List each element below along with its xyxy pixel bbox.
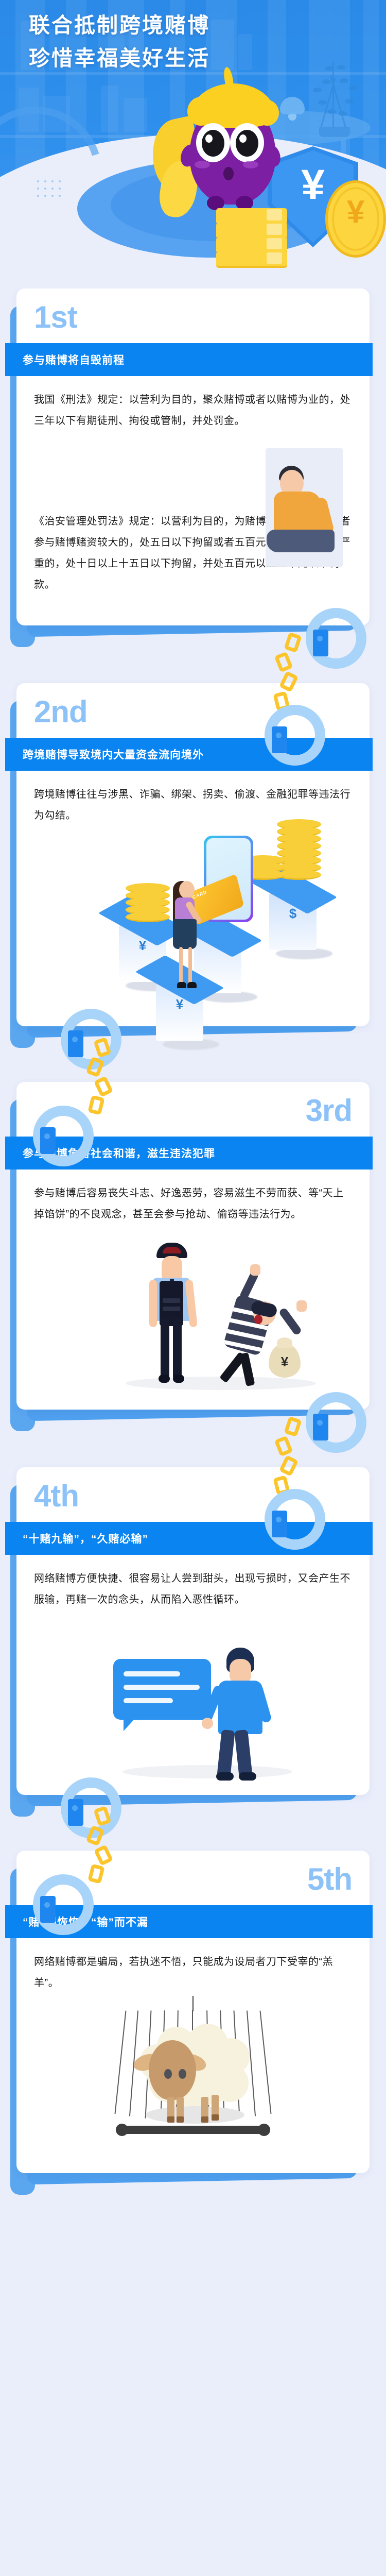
pedestal-currency-right: $	[260, 906, 325, 922]
gold-coin-icon: ¥	[325, 180, 386, 258]
pedestal-currency-left: ¥	[110, 938, 175, 954]
handcuffs-separator-3	[0, 1388, 386, 1517]
handcuffs-separator-2	[0, 1005, 386, 1133]
money-bag-symbol: ¥	[269, 1354, 301, 1370]
section-3-paragraph-1: 参与赌博后容易丧失斗志、好逸恶劳，容易滋生不劳而获、等“天上掉馅饼”的不良观念，…	[34, 1183, 352, 1225]
handcuffs-separator-4	[0, 1773, 386, 1902]
section-4: 4th “十赌九输”，“久赌必输” 网络赌博方便快捷、很容易让人尝到甜头，出现亏…	[0, 1467, 386, 1902]
online-gambling-illustration	[25, 1627, 361, 1782]
title-line-2: 珍惜幸福美好生活	[29, 42, 210, 75]
section-1-paragraph-1: 我国《刑法》规定：以营利为目的，聚众赌博或者以赌博为业的，处三年以下有期徒刑、拘…	[34, 389, 352, 432]
isometric-money-illustration: ¥ $ CARD	[25, 843, 361, 1013]
coin-yen-symbol: ¥	[328, 196, 383, 228]
sheep-in-cage-illustration	[25, 2010, 361, 2160]
hero-banner: ¥ ¥ 联合抵制跨境赌博	[0, 0, 386, 289]
coin-stack-icon	[216, 210, 287, 268]
section-4-paragraph-1: 网络赌博方便快捷、很容易让人尝到甜头，出现亏损时，又会产生不服输，再赌一次的念头…	[34, 1568, 352, 1611]
police-and-thief-illustration: ¥	[25, 1242, 361, 1396]
page-title: 联合抵制跨境赌博 珍惜幸福美好生活	[29, 9, 210, 75]
title-line-1: 联合抵制跨境赌博	[29, 9, 210, 42]
section-banner-1: 参与赌博将自毁前程	[5, 343, 373, 376]
plant-decor	[295, 49, 373, 137]
section-number-1: 1st	[16, 289, 370, 343]
handcuffs-separator-1	[0, 604, 386, 733]
sitting-person-illustration	[25, 448, 361, 510]
section-5-paragraph-1: 网络赌博都是骗局，若执迷不悟，只能成为设局者刀下受宰的“羔羊”。	[34, 1952, 352, 1994]
dots-decor	[37, 180, 73, 207]
section-1: 1st 参与赌博将自毁前程 我国《刑法》规定：以营利为目的，聚众赌博或者以赌博为…	[0, 289, 386, 733]
infographic-page: ¥ ¥ 联合抵制跨境赌博	[0, 0, 386, 2576]
section-2: 2nd 跨境赌博导致境内大量资金流向境外 跨境赌博往往与涉黑、诈骗、绑架、拐卖、…	[0, 683, 386, 1133]
